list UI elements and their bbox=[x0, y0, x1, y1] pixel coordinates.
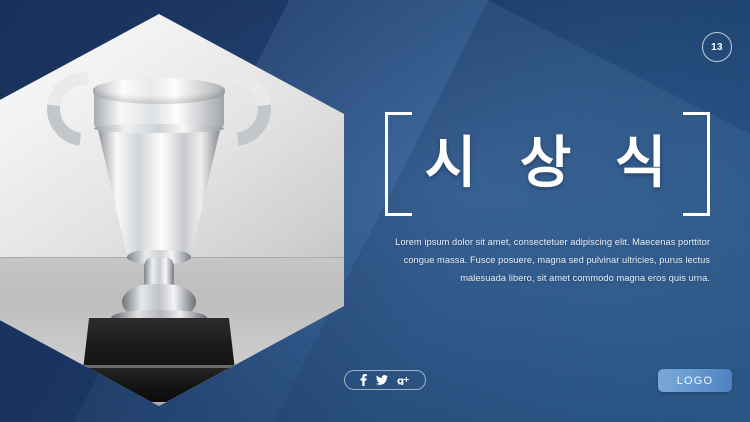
logo-label: LOGO bbox=[677, 375, 714, 387]
svg-text:+: + bbox=[403, 375, 410, 384]
trophy-base-divider bbox=[75, 365, 243, 368]
body-line: malesuada libero, sit amet commodo magna… bbox=[385, 269, 710, 287]
twitter-icon[interactable] bbox=[376, 375, 388, 385]
body-line: congue massa. Fusce posuere, magna sed p… bbox=[385, 251, 710, 269]
body-paragraph: Lorem ipsum dolor sit amet, consectetuer… bbox=[385, 233, 710, 287]
body-line: Lorem ipsum dolor sit amet, consectetuer… bbox=[385, 233, 710, 251]
logo-placeholder-button[interactable]: LOGO bbox=[658, 369, 732, 392]
trophy-icon bbox=[53, 62, 265, 362]
page-number-badge: 13 bbox=[702, 32, 732, 62]
social-links-pill[interactable]: g+ bbox=[344, 370, 426, 390]
hexagon-image-frame bbox=[0, 14, 344, 406]
page-title: 시 상 식 bbox=[385, 112, 710, 216]
trophy-rim bbox=[93, 78, 225, 104]
trophy-shadow bbox=[55, 398, 263, 406]
trophy-photo bbox=[0, 14, 344, 406]
presentation-slide: 13 시 상 식 Lorem ipsum dolor sit amet, con… bbox=[0, 0, 750, 422]
google-plus-icon[interactable]: g+ bbox=[397, 375, 410, 385]
trophy-cup bbox=[97, 126, 221, 254]
slide-title-block: 시 상 식 bbox=[385, 112, 710, 216]
facebook-icon[interactable] bbox=[360, 374, 367, 386]
trophy-base-upper bbox=[83, 318, 235, 370]
page-number-label: 13 bbox=[711, 42, 723, 53]
trophy-base-lower bbox=[71, 368, 247, 402]
